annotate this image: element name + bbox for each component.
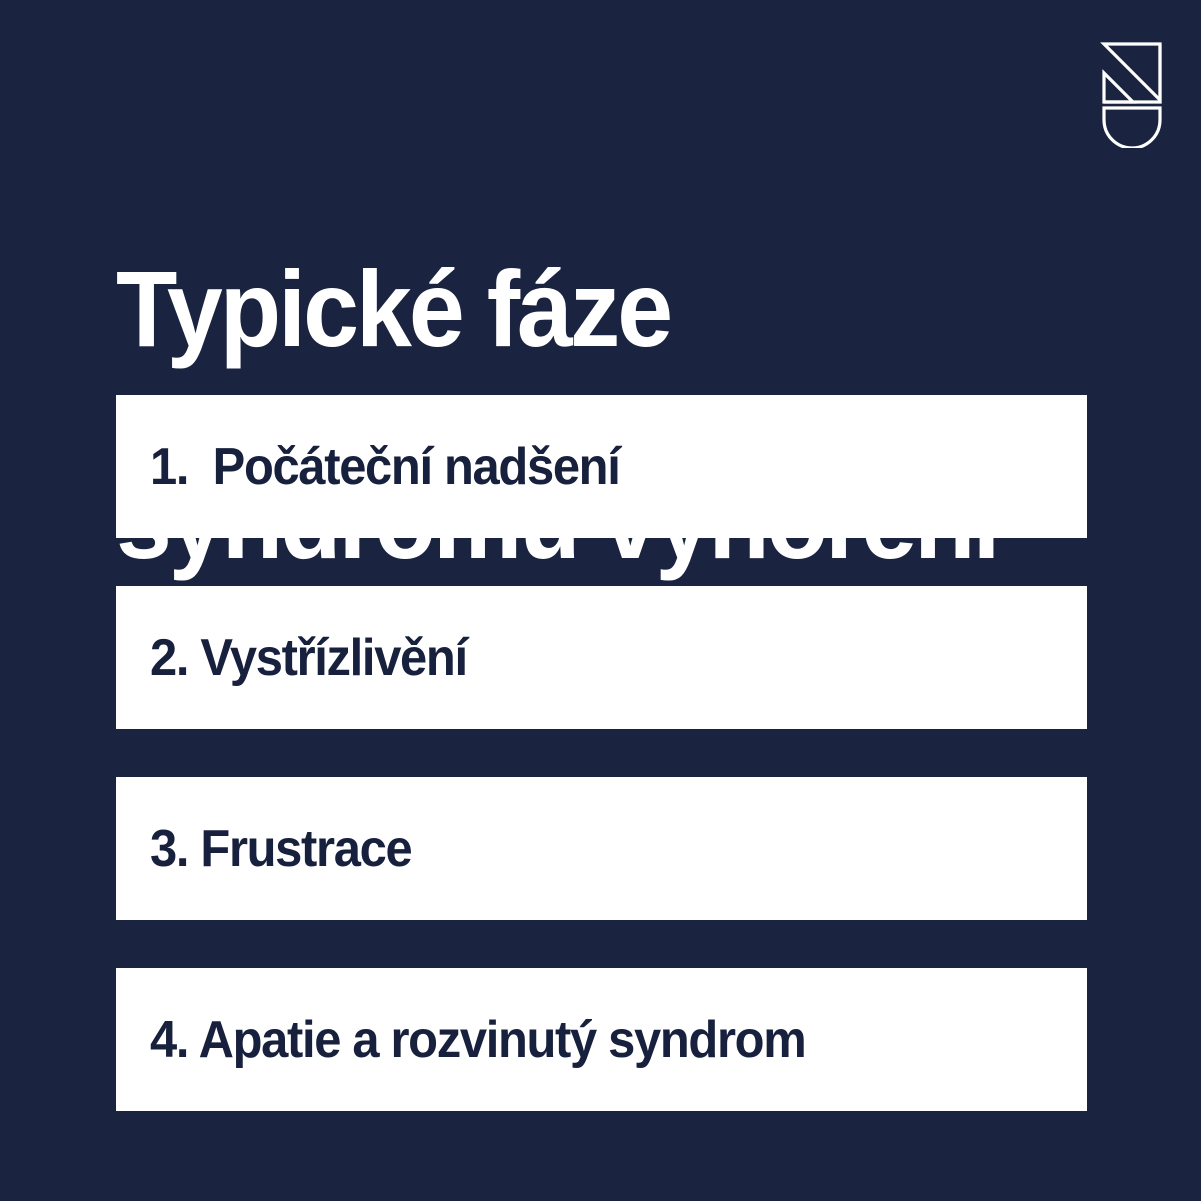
poster-canvas: Typické fáze syndromu vyhoření 1. Počáte… <box>0 0 1201 1201</box>
list-item: 1. Počáteční nadšení <box>116 395 1087 538</box>
phase-label-2: 2. Vystřízlivění <box>150 632 467 684</box>
list-item: 2. Vystřízlivění <box>116 586 1087 729</box>
page-title-line-1: Typické fáze <box>116 256 1046 362</box>
list-item: 3. Frustrace <box>116 777 1087 920</box>
phase-label-3: 3. Frustrace <box>150 823 411 875</box>
phase-label-1: 1. Počáteční nadšení <box>150 441 620 493</box>
nu-monogram-logo <box>1098 40 1166 148</box>
list-item: 4. Apatie a rozvinutý syndrom <box>116 968 1087 1111</box>
phase-label-4: 4. Apatie a rozvinutý syndrom <box>150 1014 805 1066</box>
phases-list: 1. Počáteční nadšení 2. Vystřízlivění 3.… <box>116 395 1087 1111</box>
